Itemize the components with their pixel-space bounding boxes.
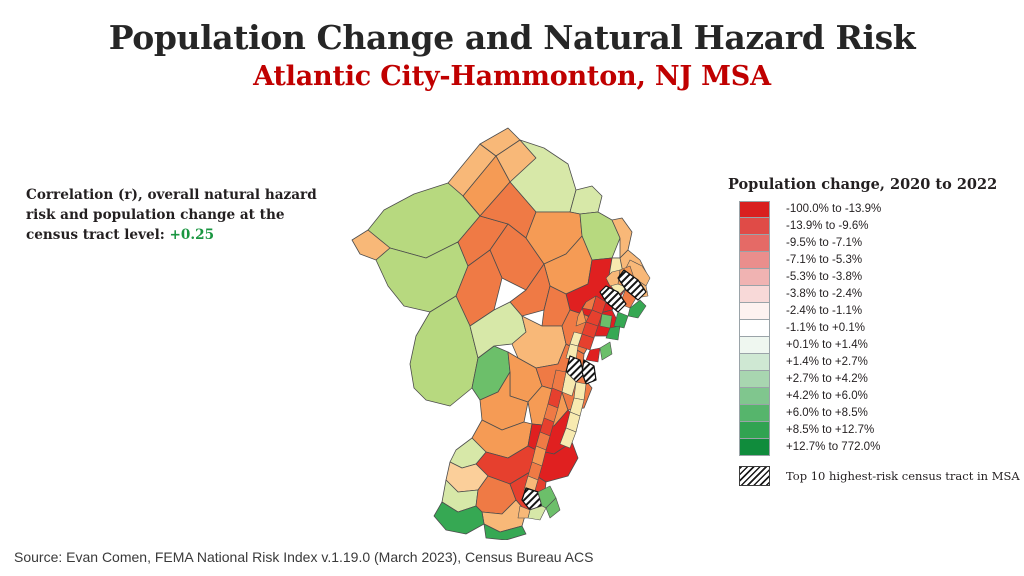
- map-tract[interactable]: [614, 312, 628, 328]
- map-tract[interactable]: [586, 348, 600, 362]
- legend-label: -9.5% to -7.1%: [786, 235, 862, 252]
- legend-item[interactable]: -5.3% to -3.8%: [722, 269, 1002, 286]
- legend-label: -5.3% to -3.8%: [786, 269, 862, 286]
- legend-swatch: [739, 337, 770, 354]
- legend-swatch: [739, 269, 770, 286]
- legend-item[interactable]: -3.8% to -2.4%: [722, 286, 1002, 303]
- map-tract[interactable]: [600, 342, 612, 360]
- legend-item[interactable]: +2.7% to +4.2%: [722, 371, 1002, 388]
- legend-swatch: [739, 405, 770, 422]
- legend-swatch: [739, 320, 770, 337]
- map-legend: Population change, 2020 to 2022 -100.0% …: [722, 176, 1002, 486]
- legend-swatch: [739, 388, 770, 405]
- correlation-note: Correlation (r), overall natural hazard …: [26, 185, 326, 245]
- legend-item[interactable]: -9.5% to -7.1%: [722, 235, 1002, 252]
- legend-swatch: [739, 235, 770, 252]
- legend-item[interactable]: +0.1% to +1.4%: [722, 337, 1002, 354]
- legend-item[interactable]: +4.2% to +6.0%: [722, 388, 1002, 405]
- legend-swatch: [739, 422, 770, 439]
- page-subtitle: Atlantic City-Hammonton, NJ MSA: [0, 60, 1024, 94]
- legend-item[interactable]: -7.1% to -5.3%: [722, 252, 1002, 269]
- legend-item[interactable]: +8.5% to +12.7%: [722, 422, 1002, 439]
- legend-label: -1.1% to +0.1%: [786, 320, 865, 337]
- legend-label: +8.5% to +12.7%: [786, 422, 874, 439]
- choropleth-map[interactable]: [330, 120, 700, 540]
- legend-label: -13.9% to -9.6%: [786, 218, 868, 235]
- legend-swatch: [739, 218, 770, 235]
- legend-label: -100.0% to -13.9%: [786, 201, 881, 218]
- legend-label: +0.1% to +1.4%: [786, 337, 868, 354]
- map-container[interactable]: [330, 120, 700, 540]
- legend-swatch: [739, 201, 770, 218]
- map-tract[interactable]: [600, 314, 612, 328]
- legend-label: -7.1% to -5.3%: [786, 252, 862, 269]
- legend-item-list: -100.0% to -13.9%-13.9% to -9.6%-9.5% to…: [722, 201, 1002, 456]
- correlation-value: +0.25: [170, 227, 215, 243]
- title-block: Population Change and Natural Hazard Ris…: [0, 18, 1024, 94]
- legend-item[interactable]: -13.9% to -9.6%: [722, 218, 1002, 235]
- legend-swatch-hatch-icon: [739, 466, 770, 486]
- legend-swatch: [739, 354, 770, 371]
- legend-swatch: [739, 303, 770, 320]
- map-tract-group-mainland: [352, 128, 648, 540]
- legend-item[interactable]: -2.4% to -1.1%: [722, 303, 1002, 320]
- legend-label: +6.0% to +8.5%: [786, 405, 868, 422]
- legend-swatch: [739, 252, 770, 269]
- legend-label: -2.4% to -1.1%: [786, 303, 862, 320]
- legend-item[interactable]: +1.4% to +2.7%: [722, 354, 1002, 371]
- legend-label: -3.8% to -2.4%: [786, 286, 862, 303]
- legend-item[interactable]: -1.1% to +0.1%: [722, 320, 1002, 337]
- legend-item[interactable]: -100.0% to -13.9%: [722, 201, 1002, 218]
- map-tract[interactable]: [574, 382, 586, 400]
- source-note: Source: Evan Comen, FEMA National Risk I…: [14, 548, 593, 566]
- legend-hatch-label: Top 10 highest-risk census tract in MSA: [786, 466, 1020, 486]
- legend-label: +1.4% to +2.7%: [786, 354, 868, 371]
- legend-title: Population change, 2020 to 2022: [728, 176, 1002, 194]
- legend-swatch: [739, 439, 770, 456]
- legend-item[interactable]: +12.7% to 772.0%: [722, 439, 1002, 456]
- legend-label: +2.7% to +4.2%: [786, 371, 868, 388]
- legend-swatch: [739, 286, 770, 303]
- legend-item[interactable]: +6.0% to +8.5%: [722, 405, 1002, 422]
- legend-label: +4.2% to +6.0%: [786, 388, 868, 405]
- page-title: Population Change and Natural Hazard Ris…: [0, 18, 1024, 58]
- legend-swatch: [739, 371, 770, 388]
- legend-item-high-risk[interactable]: Top 10 highest-risk census tract in MSA: [722, 466, 1002, 486]
- legend-label: +12.7% to 772.0%: [786, 439, 880, 456]
